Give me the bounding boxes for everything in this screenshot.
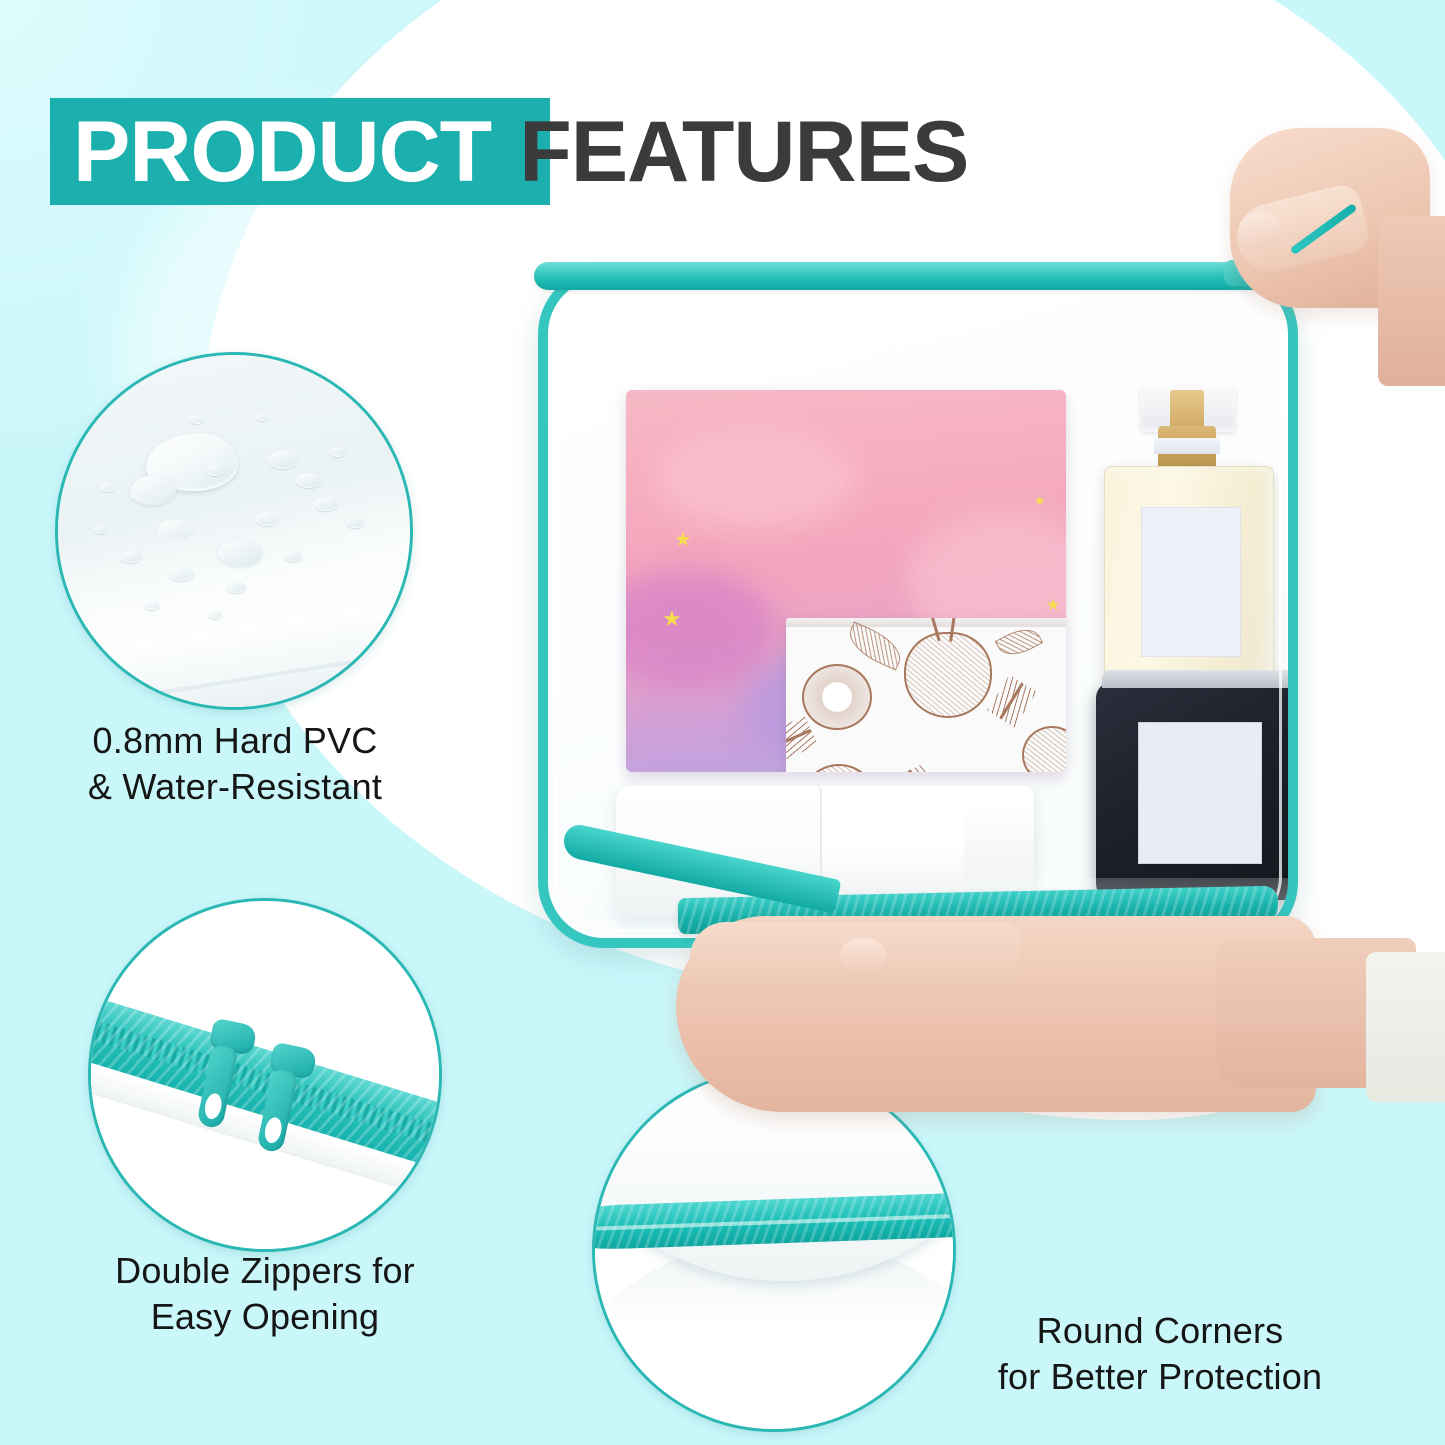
coconut-pattern-pouch <box>786 618 1066 772</box>
compact-lid <box>1102 670 1296 688</box>
coconut-icon <box>802 764 876 772</box>
star-icon: ★ <box>662 608 682 630</box>
fingernail <box>840 938 886 972</box>
star-icon: ★ <box>674 530 692 550</box>
wrist-upper <box>1378 216 1445 386</box>
pouch-zipper-strip <box>786 618 1066 627</box>
water-droplet-medium-2 <box>218 540 262 566</box>
palm-frond-icon <box>999 682 1024 719</box>
coconut-half-icon <box>802 664 872 730</box>
dark-compact-case <box>1096 682 1298 900</box>
palm-leaf-icon <box>995 622 1043 663</box>
water-droplet-small-b <box>268 451 298 469</box>
coconut-icon <box>1022 726 1066 772</box>
water-droplet-small-p <box>256 413 269 421</box>
water-droplet-medium <box>130 475 176 505</box>
hand-pulling-zipper <box>1190 120 1445 420</box>
palm-frond-icon <box>786 729 812 746</box>
title-rest-text: FEATURES <box>505 109 968 195</box>
coconut-drink-icon <box>904 632 992 718</box>
water-droplet-small-n <box>346 517 364 528</box>
water-droplet-small-o <box>190 415 204 424</box>
notebook-cloud-c <box>626 570 776 690</box>
caption-line-2: for Better Protection <box>940 1354 1380 1400</box>
water-droplet-small-e <box>256 513 278 526</box>
bag-top-zipper <box>534 262 1282 290</box>
pink-notebook: ★ ★ ★ ★ <box>626 390 1066 772</box>
feature-image-double-zippers <box>88 898 442 1252</box>
palm-leaf-icon <box>843 621 907 670</box>
water-droplet-small-d <box>314 497 338 511</box>
hand-holding-bag <box>676 916 1376 1186</box>
feature-caption-round-corners: Round Corners for Better Protection <box>940 1308 1380 1400</box>
caption-line-1: 0.8mm Hard PVC <box>30 718 440 764</box>
water-droplet-small-a <box>158 520 194 540</box>
water-droplet-small-j <box>284 551 302 562</box>
compact-label <box>1138 722 1262 864</box>
water-droplet-small-h <box>168 567 194 581</box>
caption-line-2: Easy Opening <box>70 1294 460 1340</box>
water-droplet-small-g <box>120 551 142 563</box>
infographic-canvas: PRODUCT FEATURES 0.8mm Hard PVC & Water-… <box>0 0 1445 1445</box>
index-finger <box>690 922 1020 994</box>
water-droplet-small-i <box>226 581 246 593</box>
water-droplet-small-k <box>330 447 346 457</box>
water-droplet-small-f <box>206 465 224 476</box>
notebook-cloud-a <box>656 430 856 530</box>
title-highlight-text: PRODUCT <box>50 109 505 195</box>
water-droplet-small-q <box>144 601 160 610</box>
water-droplet-small-c <box>296 473 322 488</box>
feature-caption-double-zippers: Double Zippers for Easy Opening <box>70 1248 460 1340</box>
page-title: PRODUCT FEATURES <box>50 98 968 205</box>
caption-line-1: Double Zippers for <box>70 1248 460 1294</box>
star-icon: ★ <box>1034 494 1046 507</box>
water-droplet-small-m <box>94 525 108 534</box>
feature-image-water-resistant <box>55 352 413 710</box>
star-icon: ★ <box>1046 598 1060 614</box>
zipper-pull-hole-right <box>263 1116 284 1145</box>
palm-frond-icon <box>908 770 932 772</box>
sleeve <box>1366 952 1445 1102</box>
caption-line-1: Round Corners <box>940 1308 1380 1354</box>
caption-line-2: & Water-Resistant <box>30 764 440 810</box>
water-droplet-small-l <box>100 483 116 492</box>
water-droplet-small-r <box>208 611 222 619</box>
perfume-body <box>1104 466 1274 690</box>
feature-caption-water-resistant: 0.8mm Hard PVC & Water-Resistant <box>30 718 440 810</box>
perfume-neck-ring <box>1154 438 1220 454</box>
perfume-label <box>1141 507 1241 657</box>
zipper-pull-hole-left <box>203 1092 224 1121</box>
